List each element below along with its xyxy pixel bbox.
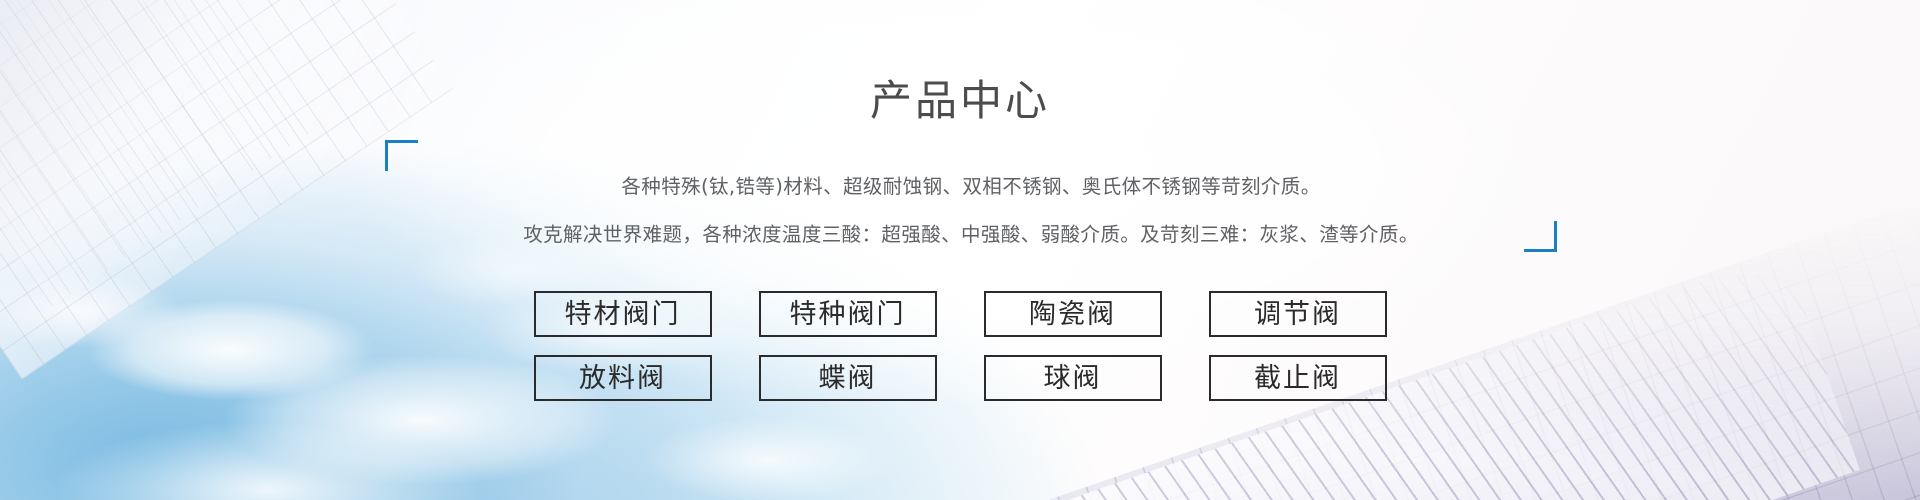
category-row-1: 特材阀门 特种阀门 陶瓷阀 调节阀 — [534, 291, 1387, 337]
category-button-tecai-famen[interactable]: 特材阀门 — [534, 291, 712, 337]
product-category-list: 特材阀门 特种阀门 陶瓷阀 调节阀 放料阀 蝶阀 球阀 截止阀 — [0, 291, 1920, 401]
page-title: 产品中心 — [0, 76, 1920, 126]
category-button-die-fa[interactable]: 蝶阀 — [759, 355, 937, 401]
banner-content: 产品中心 各种特殊(钛,锆等)材料、超级耐蚀钢、双相不锈钢、奥氏体不锈钢等苛刻介… — [0, 0, 1920, 500]
category-button-qiu-fa[interactable]: 球阀 — [984, 355, 1162, 401]
category-button-tiaojie-fa[interactable]: 调节阀 — [1209, 291, 1387, 337]
category-button-tezhong-famen[interactable]: 特种阀门 — [759, 291, 937, 337]
bracket-top-left-icon — [385, 140, 418, 171]
product-center-banner: 产品中心 各种特殊(钛,锆等)材料、超级耐蚀钢、双相不锈钢、奥氏体不锈钢等苛刻介… — [0, 0, 1920, 500]
category-button-taoci-fa[interactable]: 陶瓷阀 — [984, 291, 1162, 337]
description-line-1: 各种特殊(钛,锆等)材料、超级耐蚀钢、双相不锈钢、奥氏体不锈钢等苛刻介质。 — [385, 173, 1557, 200]
description-block: 各种特殊(钛,锆等)材料、超级耐蚀钢、双相不锈钢、奥氏体不锈钢等苛刻介质。 攻克… — [385, 140, 1557, 252]
description-line-2: 攻克解决世界难题，各种浓度温度三酸：超强酸、中强酸、弱酸介质。及苛刻三难：灰浆、… — [385, 221, 1557, 248]
category-button-fangliao-fa[interactable]: 放料阀 — [534, 355, 712, 401]
category-button-jiezhi-fa[interactable]: 截止阀 — [1209, 355, 1387, 401]
category-row-2: 放料阀 蝶阀 球阀 截止阀 — [534, 355, 1387, 401]
